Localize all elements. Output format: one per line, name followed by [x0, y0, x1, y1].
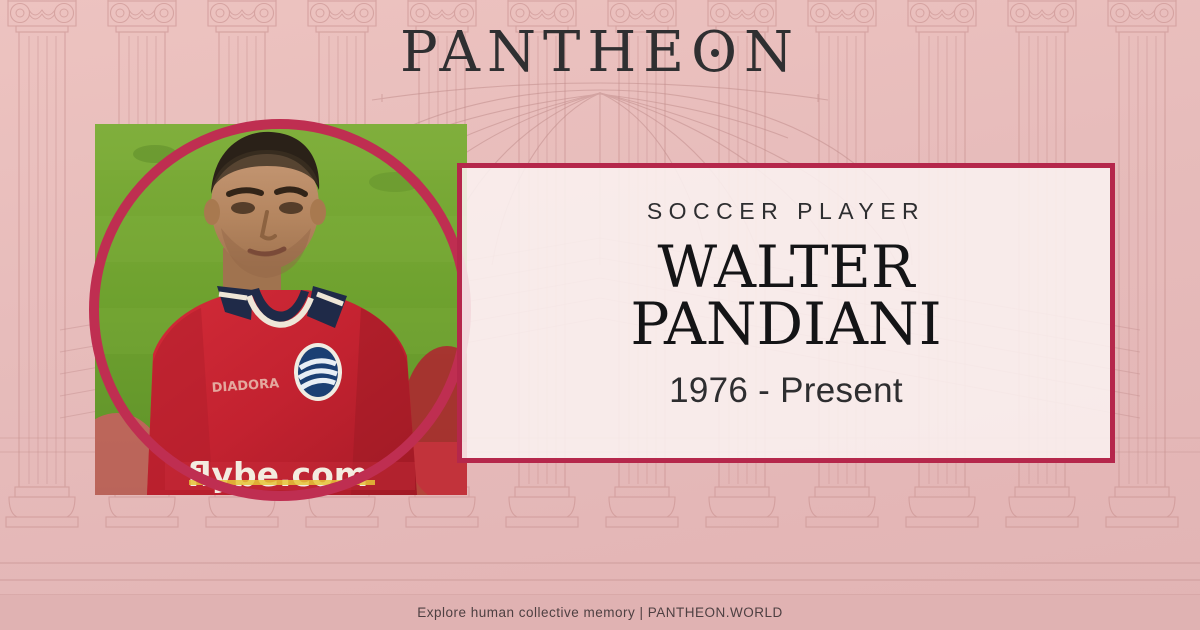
person-info-card: SOCCER PLAYER WALTER PANDIANI 1976 - Pre…: [457, 163, 1115, 463]
footer-tagline[interactable]: Explore human collective memory | PANTHE…: [417, 605, 783, 620]
person-name-line-2: PANDIANI: [630, 296, 941, 353]
portrait[interactable]: DIADORA flybe.com: [95, 124, 467, 495]
logo-text-part-1: PANTHE: [400, 20, 691, 85]
pantheon-logo[interactable]: PANTHEON: [0, 24, 1200, 83]
person-name-line-1: WALTER: [630, 239, 941, 296]
lifespan-label: 1976 - Present: [669, 371, 903, 411]
logo-text-part-2: N: [744, 20, 800, 85]
person-name: WALTER PANDIANI: [618, 239, 953, 353]
logo-dotted-o-icon: O: [691, 24, 744, 83]
footer-bar: Explore human collective memory | PANTHE…: [0, 595, 1200, 630]
occupation-label: SOCCER PLAYER: [647, 198, 925, 225]
logo-center-dot-icon: [711, 49, 719, 57]
portrait-circle-frame: [89, 119, 471, 501]
